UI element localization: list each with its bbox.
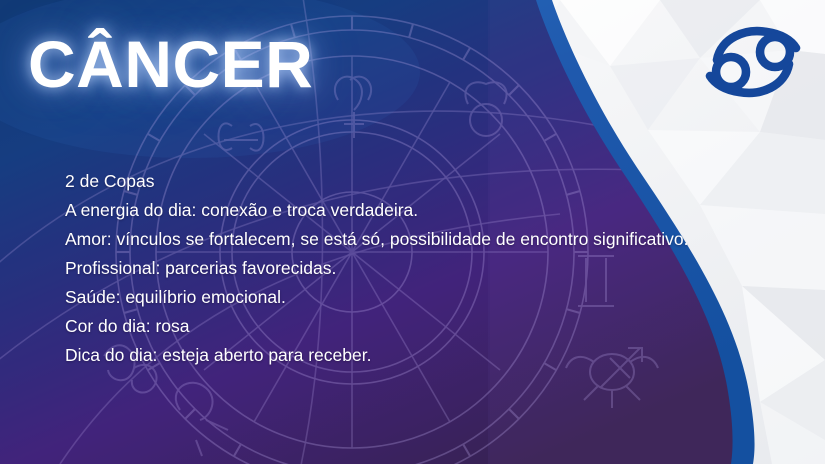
- reading-line: Cor do dia: rosa: [65, 312, 765, 341]
- reading-line: Profissional: parcerias favorecidas.: [65, 254, 765, 283]
- reading-line: Dica do dia: esteja aberto para receber.: [65, 341, 765, 370]
- reading-line: A energia do dia: conexão e troca verdad…: [65, 196, 765, 225]
- reading-line: 2 de Copas: [65, 167, 765, 196]
- horoscope-reading-text: 2 de Copas A energia do dia: conexão e t…: [65, 167, 765, 370]
- cancer-zodiac-icon: [701, 22, 805, 102]
- reading-line: Amor: vínculos se fortalecem, se está só…: [65, 225, 765, 254]
- reading-line: Saúde: equilíbrio emocional.: [65, 283, 765, 312]
- zodiac-sign-title: CÂNCER: [28, 27, 313, 103]
- horoscope-card: CÂNCER 2 de Copas A energia do dia: cone…: [0, 0, 825, 464]
